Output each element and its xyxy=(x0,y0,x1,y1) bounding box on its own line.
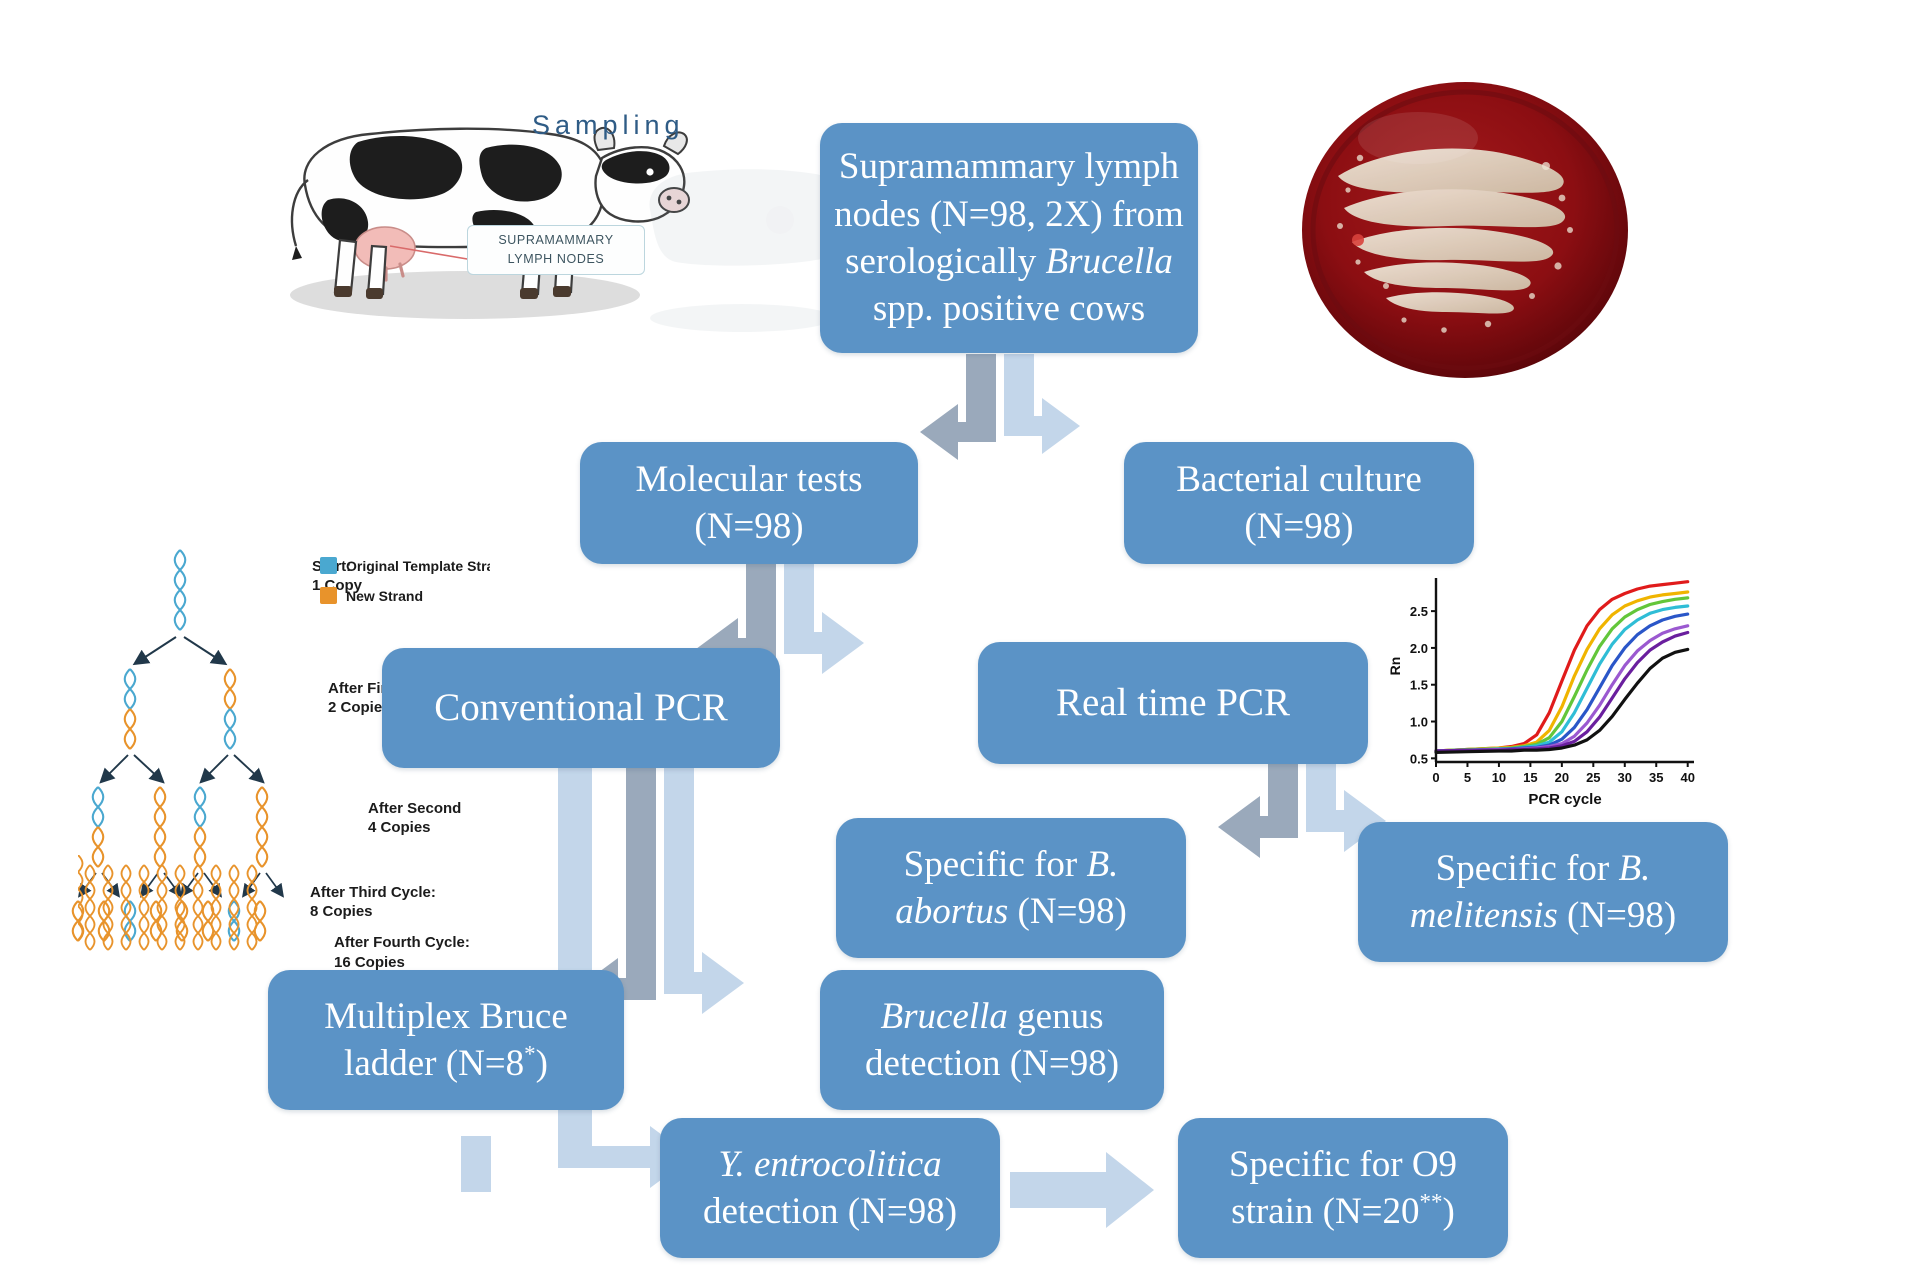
box-specific-b-abortus[interactable]: Specific for B. abortus (N=98) xyxy=(836,818,1186,958)
box-bacterial-culture[interactable]: Bacterial culture (N=98) xyxy=(1124,442,1474,564)
pcr-legend-new: New Strand xyxy=(346,588,423,604)
box-bacterial-culture-label: Bacterial culture (N=98) xyxy=(1138,456,1460,551)
svg-text:20: 20 xyxy=(1555,770,1569,785)
svg-text:15: 15 xyxy=(1523,770,1537,785)
box-brucella-genus-detection-label: Brucella genus detection (N=98) xyxy=(834,993,1150,1088)
pcr-stage-2-line2: 4 Copies xyxy=(368,819,431,836)
svg-text:40: 40 xyxy=(1680,770,1694,785)
svg-text:1.5: 1.5 xyxy=(1410,678,1428,693)
svg-text:2.0: 2.0 xyxy=(1410,641,1428,656)
box-conventional-pcr-label: Conventional PCR xyxy=(434,683,728,733)
pcr-stage-4-line1: After Fourth Cycle: xyxy=(334,934,470,951)
supramammary-lymph-nodes-callout: SUPRAMAMMARY LYMPH NODES xyxy=(467,225,645,275)
box-multiplex-bruce-ladder[interactable]: Multiplex Bruce ladder (N=8*) xyxy=(268,970,624,1110)
svg-text:0: 0 xyxy=(1432,770,1439,785)
box-specific-o9-strain-label: Specific for O9 strain (N=20**) xyxy=(1192,1141,1494,1236)
box-molecular-tests-label: Molecular tests (N=98) xyxy=(594,456,904,551)
box-y-entrocolitica-detection[interactable]: Y. entrocolitica detection (N=98) xyxy=(660,1118,1000,1258)
chart-y-axis-label: Rn xyxy=(1387,657,1403,676)
sampling-label: Sampling xyxy=(532,110,685,141)
callout-line-1: SUPRAMAMMARY xyxy=(498,233,613,247)
callout-line-2: LYMPH NODES xyxy=(508,252,605,266)
box-molecular-tests[interactable]: Molecular tests (N=98) xyxy=(580,442,918,564)
box-sampling-source[interactable]: Supramammary lymph nodes (N=98, 2X) from… xyxy=(820,123,1198,353)
box-multiplex-bruce-ladder-label: Multiplex Bruce ladder (N=8*) xyxy=(282,993,610,1088)
box-brucella-genus-detection[interactable]: Brucella genus detection (N=98) xyxy=(820,970,1164,1110)
arrow-ladder-down xyxy=(455,1136,575,1226)
chart-x-axis-label: PCR cycle xyxy=(1528,791,1601,808)
arrow-yersinia-to-o9 xyxy=(1008,1150,1178,1230)
box-sampling-source-label: Supramammary lymph nodes (N=98, 2X) from… xyxy=(834,143,1184,332)
workflow-diagram: Sampling SUPRAMAMMARY LYMPH NODES xyxy=(0,0,1908,1288)
box-specific-b-abortus-label: Specific for B. abortus (N=98) xyxy=(850,841,1172,936)
svg-text:10: 10 xyxy=(1492,770,1506,785)
svg-text:2.5: 2.5 xyxy=(1410,604,1428,619)
pcr-legend-original: Original Template Strand xyxy=(346,558,490,574)
svg-text:35: 35 xyxy=(1649,770,1663,785)
box-conventional-pcr[interactable]: Conventional PCR xyxy=(382,648,780,768)
box-specific-o9-strain[interactable]: Specific for O9 strain (N=20**) xyxy=(1178,1118,1508,1258)
svg-text:25: 25 xyxy=(1586,770,1600,785)
svg-text:1.0: 1.0 xyxy=(1410,715,1428,730)
realtime-pcr-amplification-chart: 0.51.01.52.02.5 0510152025303540 PCR cyc… xyxy=(1376,566,1706,816)
blood-agar-plate-photo xyxy=(1300,80,1630,380)
box-real-time-pcr-label: Real time PCR xyxy=(1056,678,1290,728)
box-specific-b-melitensis-label: Specific for B. melitensis (N=98) xyxy=(1372,845,1714,940)
svg-text:5: 5 xyxy=(1464,770,1471,785)
pcr-stage-4-line2: 16 Copies xyxy=(334,954,405,971)
pcr-stage-2-line1: After Second xyxy=(368,800,461,817)
svg-text:30: 30 xyxy=(1618,770,1632,785)
pcr-generation-four-strands xyxy=(78,855,328,965)
box-real-time-pcr[interactable]: Real time PCR xyxy=(978,642,1368,764)
pcr-stage-3-line1: After Third Cycle: xyxy=(310,884,436,901)
box-specific-b-melitensis[interactable]: Specific for B. melitensis (N=98) xyxy=(1358,822,1728,962)
box-y-entrocolitica-detection-label: Y. entrocolitica detection (N=98) xyxy=(674,1141,986,1236)
